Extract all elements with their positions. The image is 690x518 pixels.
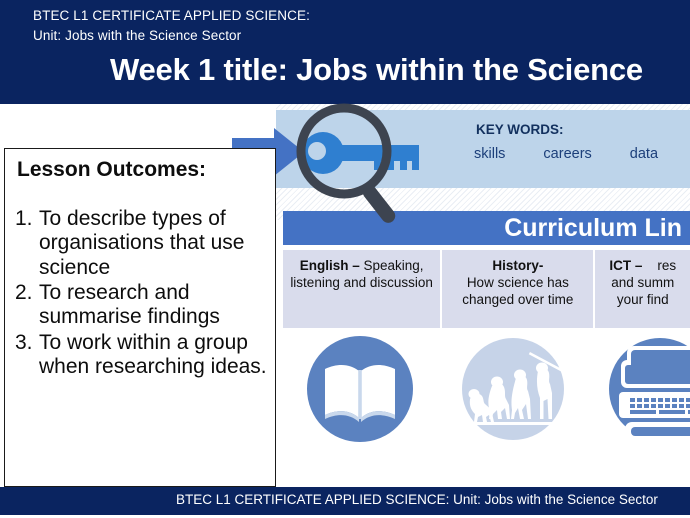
laptop-icon xyxy=(605,336,690,453)
header-course-line: BTEC L1 CERTIFICATE APPLIED SCIENCE: xyxy=(33,8,310,23)
lesson-outcomes-list: 1. To describe types of organisations th… xyxy=(9,207,273,381)
list-item: 3. To work within a group when researchi… xyxy=(9,331,273,380)
list-item: 2. To research and summarise findings xyxy=(9,281,273,330)
key-words-list: skills careers data s xyxy=(474,146,690,162)
magnifying-glass-with-key-icon xyxy=(290,98,422,223)
list-item-number: 2. xyxy=(9,281,39,305)
page-title: Week 1 title: Jobs within the Science xyxy=(110,52,643,88)
curriculum-icon-row xyxy=(283,336,690,481)
slide-header: BTEC L1 CERTIFICATE APPLIED SCIENCE: Uni… xyxy=(0,0,690,104)
curriculum-subject-ict: ICT – xyxy=(609,258,646,273)
slide-footer: BTEC L1 CERTIFICATE APPLIED SCIENCE: Uni… xyxy=(0,487,690,515)
list-item-label: To work within a group when researching … xyxy=(39,331,273,380)
curriculum-body-history: How science has changed over time xyxy=(462,275,573,307)
lesson-outcomes-panel: Lesson Outcomes: 1. To describe types of… xyxy=(4,148,276,487)
list-item-number: 3. xyxy=(9,331,39,355)
key-shape xyxy=(302,132,419,174)
curriculum-body-ict-line3: your find xyxy=(599,291,686,308)
key-word: data xyxy=(630,146,658,162)
curriculum-body-ict: res xyxy=(657,258,676,273)
key-word: skills xyxy=(474,146,505,162)
curriculum-cell-english: English – Speaking, listening and discus… xyxy=(283,250,440,328)
header-unit-line: Unit: Jobs with the Science Sector xyxy=(33,28,241,43)
list-item-number: 1. xyxy=(9,207,39,231)
evolution-of-man-icon xyxy=(458,336,568,453)
curriculum-body-ict-line2: and summ xyxy=(599,274,686,291)
curriculum-subject-english: English – xyxy=(300,258,364,273)
curriculum-cell-history: History- How science has changed over ti… xyxy=(442,250,593,328)
open-book-icon xyxy=(305,336,415,453)
lesson-outcomes-heading: Lesson Outcomes: xyxy=(17,158,206,182)
curriculum-links-row: English – Speaking, listening and discus… xyxy=(283,250,690,328)
list-item: 1. To describe types of organisations th… xyxy=(9,207,273,280)
curriculum-links-title: Curriculum Lin xyxy=(504,214,682,243)
list-item-label: To research and summarise findings xyxy=(39,281,273,330)
list-item-label: To describe types of organisations that … xyxy=(39,207,273,280)
key-word: careers xyxy=(543,146,591,162)
footer-text: BTEC L1 CERTIFICATE APPLIED SCIENCE: Uni… xyxy=(176,492,658,507)
curriculum-cell-ict: ICT – res and summ your find xyxy=(595,250,690,328)
slide-canvas: BTEC L1 CERTIFICATE APPLIED SCIENCE: Uni… xyxy=(0,0,690,518)
curriculum-subject-history: History- xyxy=(492,258,543,273)
key-words-label: KEY WORDS: xyxy=(476,122,564,137)
